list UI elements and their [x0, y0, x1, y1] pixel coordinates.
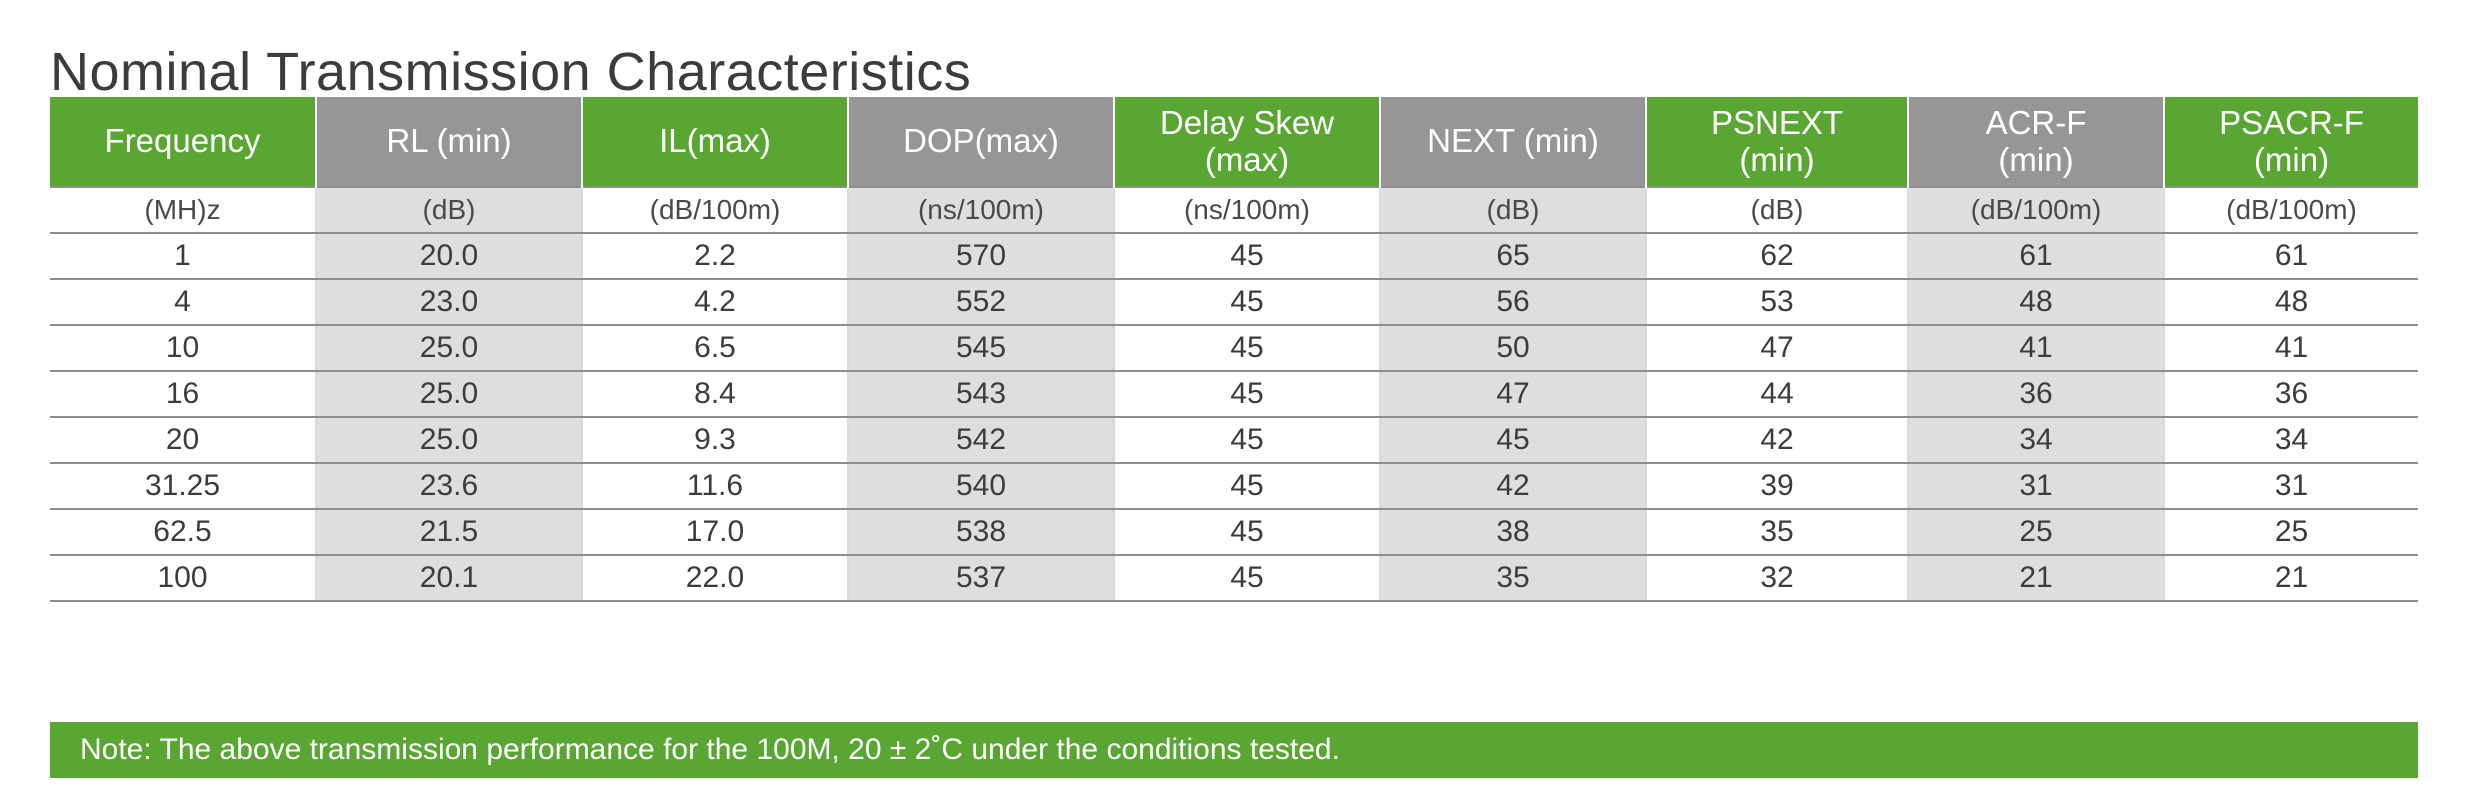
unit-cell: (MH)z: [50, 187, 316, 233]
table-row: 4 23.0 4.2 552 45 56 53 48 48: [50, 279, 2418, 325]
table-row: 62.5 21.5 17.0 538 45 38 35 25 25: [50, 509, 2418, 555]
data-cell: 23.6: [316, 463, 582, 509]
data-cell: 21: [2164, 555, 2418, 601]
column-header-next-min: NEXT (min): [1380, 97, 1646, 187]
column-header-psacr-f-min: PSACR-F(min): [2164, 97, 2418, 187]
data-cell: 41: [2164, 325, 2418, 371]
data-cell: 34: [1908, 417, 2164, 463]
unit-cell: (dB): [1380, 187, 1646, 233]
header-line1: IL(max): [659, 122, 771, 159]
header-line1: ACR-F: [1986, 104, 2087, 141]
unit-cell: (dB): [316, 187, 582, 233]
column-header-delay-skew-max: Delay Skew(max): [1114, 97, 1380, 187]
data-cell: 36: [1908, 371, 2164, 417]
data-cell: 45: [1114, 371, 1380, 417]
column-header-il-max: IL(max): [582, 97, 848, 187]
data-cell: 36: [2164, 371, 2418, 417]
data-cell: 65: [1380, 233, 1646, 279]
data-cell: 45: [1114, 509, 1380, 555]
spec-sheet-page: Nominal Transmission Characteristics Fre…: [0, 0, 2480, 809]
data-cell: 62: [1646, 233, 1908, 279]
table-row: 1 20.0 2.2 570 45 65 62 61 61: [50, 233, 2418, 279]
data-cell: 45: [1114, 279, 1380, 325]
data-cell: 50: [1380, 325, 1646, 371]
data-cell: 42: [1646, 417, 1908, 463]
data-cell: 6.5: [582, 325, 848, 371]
data-cell: 4: [50, 279, 316, 325]
page-title: Nominal Transmission Characteristics: [50, 38, 971, 106]
data-cell: 22.0: [582, 555, 848, 601]
data-cell: 45: [1114, 417, 1380, 463]
table-header: Frequency RL (min) IL(max) DOP(max) Dela…: [50, 97, 2418, 187]
unit-cell: (dB/100m): [1908, 187, 2164, 233]
header-row: Frequency RL (min) IL(max) DOP(max) Dela…: [50, 97, 2418, 187]
data-cell: 38: [1380, 509, 1646, 555]
data-cell: 25: [2164, 509, 2418, 555]
table-row: 16 25.0 8.4 543 45 47 44 36 36: [50, 371, 2418, 417]
data-cell: 41: [1908, 325, 2164, 371]
note-text: Note: The above transmission performance…: [50, 735, 1340, 765]
data-cell: 47: [1380, 371, 1646, 417]
data-cell: 552: [848, 279, 1114, 325]
data-cell: 62.5: [50, 509, 316, 555]
data-cell: 543: [848, 371, 1114, 417]
header-line2: (min): [2254, 141, 2329, 178]
transmission-characteristics-table-wrapper: Frequency RL (min) IL(max) DOP(max) Dela…: [50, 97, 2418, 602]
transmission-characteristics-table: Frequency RL (min) IL(max) DOP(max) Dela…: [50, 97, 2418, 602]
data-cell: 542: [848, 417, 1114, 463]
data-cell: 25: [1908, 509, 2164, 555]
data-cell: 16: [50, 371, 316, 417]
column-header-frequency: Frequency: [50, 97, 316, 187]
unit-cell: (ns/100m): [1114, 187, 1380, 233]
data-cell: 21: [1908, 555, 2164, 601]
table-row: 31.25 23.6 11.6 540 45 42 39 31 31: [50, 463, 2418, 509]
data-cell: 34: [2164, 417, 2418, 463]
column-header-psnext-min: PSNEXT(min): [1646, 97, 1908, 187]
data-cell: 47: [1646, 325, 1908, 371]
data-cell: 538: [848, 509, 1114, 555]
data-cell: 48: [2164, 279, 2418, 325]
data-cell: 11.6: [582, 463, 848, 509]
header-line1: DOP(max): [903, 122, 1059, 159]
data-cell: 31: [1908, 463, 2164, 509]
header-line1: NEXT (min): [1427, 122, 1599, 159]
data-cell: 1: [50, 233, 316, 279]
column-header-rl-min: RL (min): [316, 97, 582, 187]
data-cell: 25.0: [316, 417, 582, 463]
data-cell: 2.2: [582, 233, 848, 279]
data-cell: 23.0: [316, 279, 582, 325]
data-cell: 48: [1908, 279, 2164, 325]
header-line1: RL (min): [386, 122, 511, 159]
data-cell: 21.5: [316, 509, 582, 555]
unit-cell: (dB/100m): [2164, 187, 2418, 233]
data-cell: 545: [848, 325, 1114, 371]
data-cell: 25.0: [316, 371, 582, 417]
data-cell: 537: [848, 555, 1114, 601]
data-cell: 20: [50, 417, 316, 463]
data-cell: 20.0: [316, 233, 582, 279]
data-cell: 45: [1114, 463, 1380, 509]
header-line1: PSACR-F: [2219, 104, 2364, 141]
data-cell: 540: [848, 463, 1114, 509]
note-bar: Note: The above transmission performance…: [50, 722, 2418, 778]
units-row: (MH)z (dB) (dB/100m) (ns/100m) (ns/100m)…: [50, 187, 2418, 233]
header-line1: Frequency: [105, 122, 261, 159]
header-line2: (max): [1205, 141, 1289, 178]
table-row: 10 25.0 6.5 545 45 50 47 41 41: [50, 325, 2418, 371]
data-cell: 35: [1380, 555, 1646, 601]
data-cell: 20.1: [316, 555, 582, 601]
header-line2: (min): [1998, 141, 2073, 178]
data-cell: 570: [848, 233, 1114, 279]
unit-cell: (dB/100m): [582, 187, 848, 233]
data-cell: 10: [50, 325, 316, 371]
unit-cell: (ns/100m): [848, 187, 1114, 233]
data-cell: 4.2: [582, 279, 848, 325]
table-row: 100 20.1 22.0 537 45 35 32 21 21: [50, 555, 2418, 601]
table-row: 20 25.0 9.3 542 45 45 42 34 34: [50, 417, 2418, 463]
data-cell: 53: [1646, 279, 1908, 325]
data-cell: 100: [50, 555, 316, 601]
header-line1: PSNEXT: [1711, 104, 1843, 141]
data-cell: 35: [1646, 509, 1908, 555]
data-cell: 42: [1380, 463, 1646, 509]
data-cell: 39: [1646, 463, 1908, 509]
data-cell: 56: [1380, 279, 1646, 325]
column-header-dop-max: DOP(max): [848, 97, 1114, 187]
column-header-acr-f-min: ACR-F(min): [1908, 97, 2164, 187]
header-line2: (min): [1739, 141, 1814, 178]
data-cell: 8.4: [582, 371, 848, 417]
data-cell: 61: [2164, 233, 2418, 279]
data-cell: 31: [2164, 463, 2418, 509]
data-cell: 17.0: [582, 509, 848, 555]
data-cell: 9.3: [582, 417, 848, 463]
data-cell: 32: [1646, 555, 1908, 601]
data-cell: 45: [1114, 233, 1380, 279]
data-cell: 61: [1908, 233, 2164, 279]
header-line1: Delay Skew: [1160, 104, 1334, 141]
data-cell: 44: [1646, 371, 1908, 417]
unit-cell: (dB): [1646, 187, 1908, 233]
table-body: (MH)z (dB) (dB/100m) (ns/100m) (ns/100m)…: [50, 187, 2418, 601]
data-cell: 45: [1114, 555, 1380, 601]
data-cell: 31.25: [50, 463, 316, 509]
data-cell: 25.0: [316, 325, 582, 371]
data-cell: 45: [1114, 325, 1380, 371]
data-cell: 45: [1380, 417, 1646, 463]
